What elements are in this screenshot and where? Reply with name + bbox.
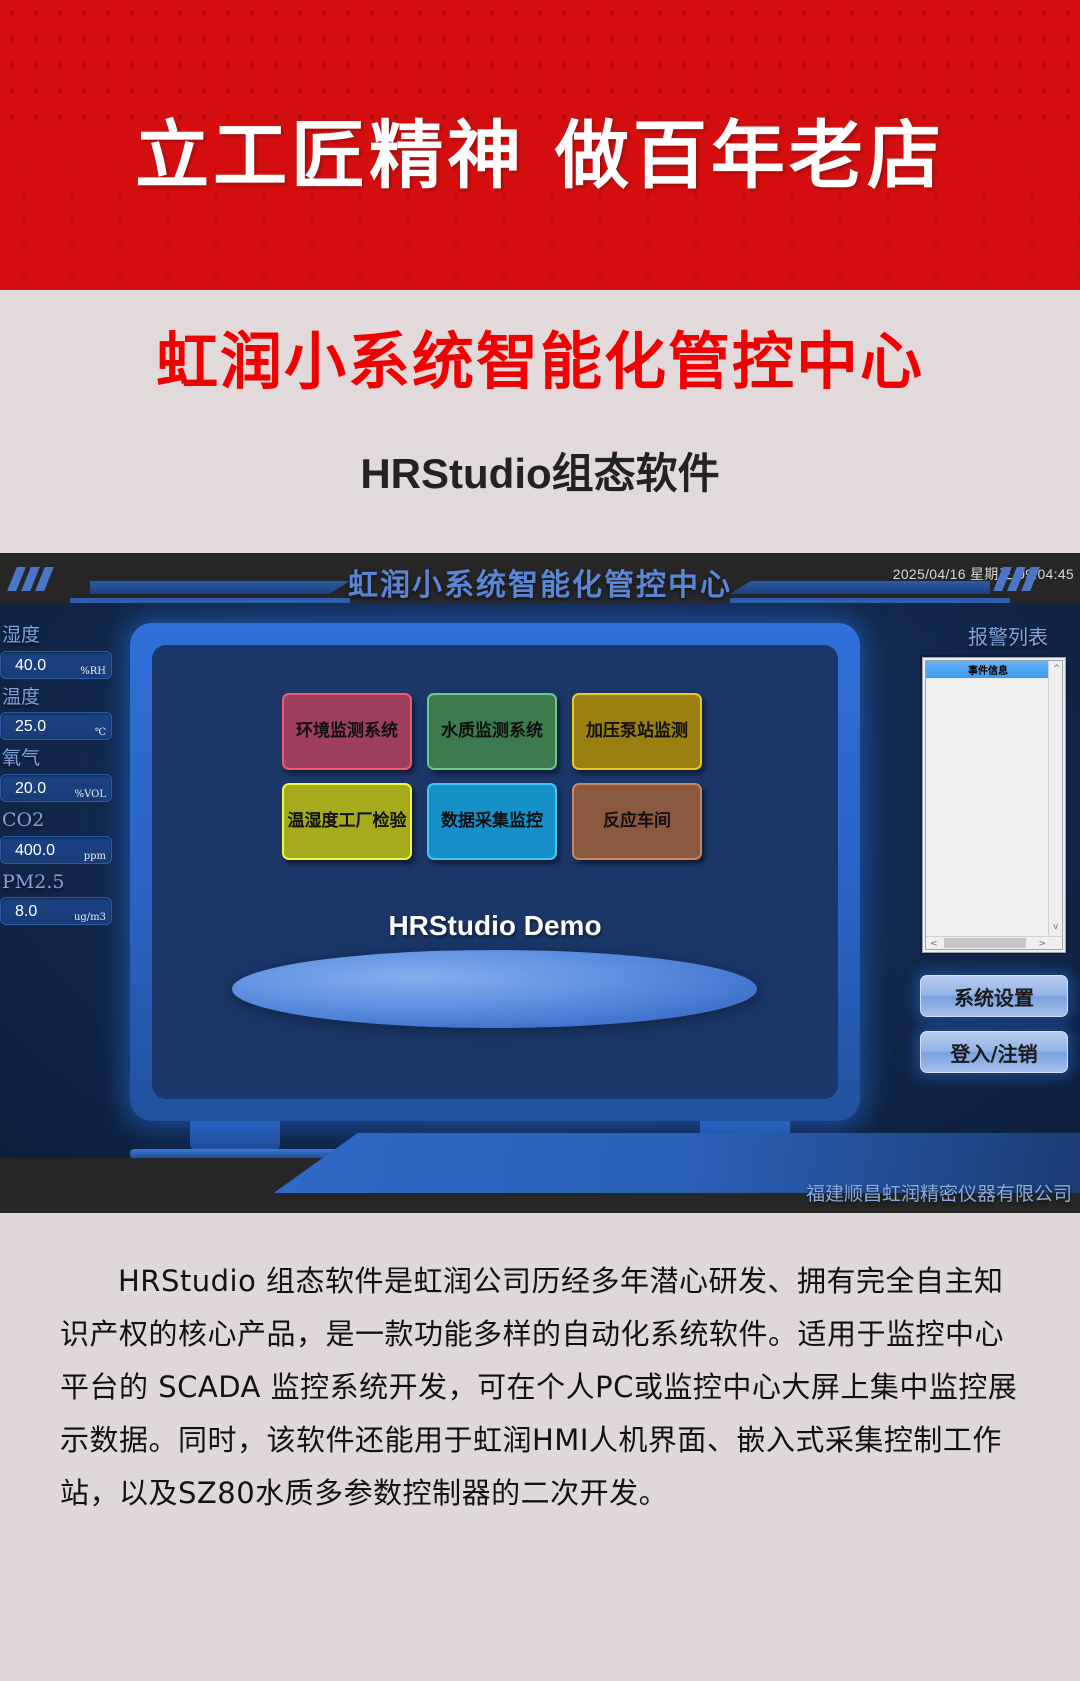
sensor-value-humidity: 40.0 [15,657,46,675]
tile-data-acquisition-control[interactable]: 数据采集监控 [427,783,557,860]
sensor-label-oxygen: 氧气 [0,746,118,772]
monitor-frame: 环境监测系统 水质监测系统 加压泵站监测 温湿度工厂检验 数据采集监控 反应车间… [130,623,860,1121]
sensor-field-oxygen[interactable]: 20.0 %VOL [0,774,112,802]
description-text: HRStudio 组态软件是虹润公司历经多年潜心研发、拥有完全自主知识产权的核心… [60,1255,1020,1520]
sensor-field-pm25[interactable]: 8.0 ug/m3 [0,897,112,925]
tile-pump-station-monitoring[interactable]: 加压泵站监测 [572,693,702,770]
page-subtitle: HRStudio组态软件 [0,440,1080,501]
sensor-field-temperature[interactable]: 25.0 ℃ [0,712,112,740]
hmi-screenshot: 虹润小系统智能化管控中心 2025/04/16 星期三 09:04:45 湿度 … [0,553,1080,1213]
sensor-group-oxygen: 氧气 20.0 %VOL [0,746,118,802]
page-title: 虹润小系统智能化管控中心 [0,328,1080,396]
alarm-panel-title: 报警列表 [968,621,1048,650]
alarm-list-vertical-scrollbar[interactable]: ^ v [1048,661,1062,936]
chevron-up-icon[interactable]: ^ [1053,665,1061,674]
alarm-panel: 报警列表 事件信息 ^ v < > 系统设置 登入/注销 [862,603,1080,1158]
hmi-footer-bar: 福建顺昌虹润精密仪器有限公司 [0,1158,1080,1213]
description-section: HRStudio 组态软件是虹润公司历经多年潜心研发、拥有完全自主知识产权的核心… [0,1213,1080,1681]
promo-banner: 立工匠精神 做百年老店 [0,0,1080,290]
sensor-label-temperature: 温度 [0,685,118,711]
sensor-group-pm25: PM2.5 8.0 ug/m3 [0,870,118,926]
sensor-value-pm25: 8.0 [15,903,37,921]
sensor-unit-pm25: ug/m3 [74,912,106,923]
sensor-sidebar: 湿度 40.0 %RH 温度 25.0 ℃ 氧气 20.0 %VOL [0,623,118,931]
company-name: 福建顺昌虹润精密仪器有限公司 [806,1179,1072,1206]
demo-label: HRStudio Demo [152,910,838,942]
sensor-unit-humidity: %RH [80,666,106,677]
sensor-unit-oxygen: %VOL [75,789,106,800]
hmi-header-title: 虹润小系统智能化管控中心 [0,560,1080,604]
sensor-value-temperature: 25.0 [15,718,46,736]
sensor-value-co2: 400.0 [15,842,55,860]
alarm-list-inner: 事件信息 ^ v < > [925,660,1063,950]
sensor-value-oxygen: 20.0 [15,780,46,798]
chevron-left-icon[interactable]: < [930,940,938,949]
sensor-group-temperature: 温度 25.0 ℃ [0,685,118,741]
tile-water-quality-monitoring[interactable]: 水质监测系统 [427,693,557,770]
product-title-block: 虹润小系统智能化管控中心 HRStudio组态软件 [0,290,1080,553]
alarm-list-column-header: 事件信息 [926,661,1050,678]
system-settings-button[interactable]: 系统设置 [920,975,1068,1017]
monitor-screen: 环境监测系统 水质监测系统 加压泵站监测 温湿度工厂检验 数据采集监控 反应车间… [152,645,838,1099]
scrollbar-thumb[interactable] [944,938,1026,948]
hmi-header-bar: 虹润小系统智能化管控中心 2025/04/16 星期三 09:04:45 [0,553,1080,603]
hmi-main-area: 湿度 40.0 %RH 温度 25.0 ℃ 氧气 20.0 %VOL [0,603,1080,1158]
sensor-label-pm25: PM2.5 [0,870,118,896]
alarm-list-box[interactable]: 事件信息 ^ v < > [920,655,1068,955]
tile-reaction-workshop[interactable]: 反应车间 [572,783,702,860]
sensor-group-co2: CO2 400.0 ppm [0,808,118,864]
sensor-field-co2[interactable]: 400.0 ppm [0,836,112,864]
decor-ellipse [232,950,757,1028]
sensor-unit-co2: ppm [84,851,106,862]
banner-slogan: 立工匠精神 做百年老店 [0,96,1080,203]
chevron-down-icon[interactable]: v [1053,923,1058,932]
tile-temp-humidity-factory-test[interactable]: 温湿度工厂检验 [282,783,412,860]
alarm-list-horizontal-scrollbar[interactable]: < > [926,936,1062,949]
monitor-stand-left [190,1121,280,1151]
sensor-label-humidity: 湿度 [0,623,118,649]
sensor-label-co2: CO2 [0,808,118,834]
sensor-unit-temperature: ℃ [95,727,106,738]
tile-environment-monitoring[interactable]: 环境监测系统 [282,693,412,770]
login-logout-button[interactable]: 登入/注销 [920,1031,1068,1073]
module-tile-grid: 环境监测系统 水质监测系统 加压泵站监测 温湿度工厂检验 数据采集监控 反应车间 [282,693,732,860]
sensor-field-humidity[interactable]: 40.0 %RH [0,651,112,679]
chevron-right-icon[interactable]: > [1038,940,1046,949]
sensor-group-humidity: 湿度 40.0 %RH [0,623,118,679]
